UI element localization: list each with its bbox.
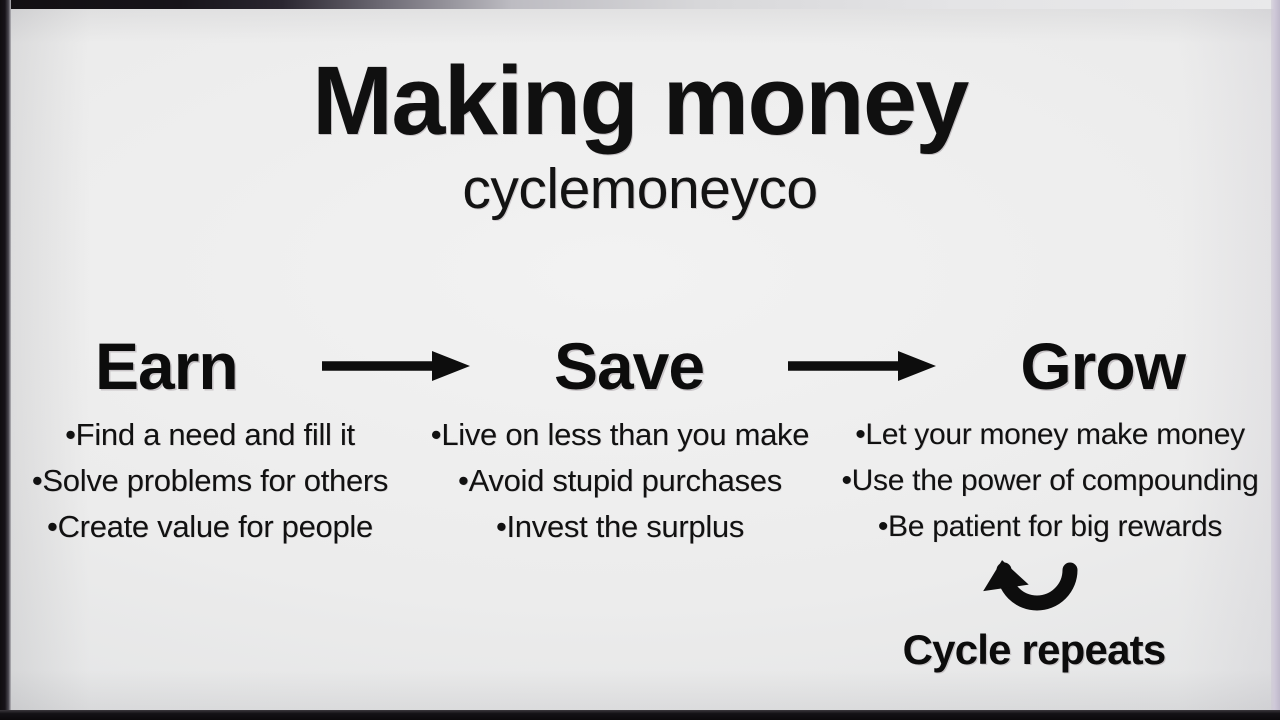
stage-heading-earn: Earn <box>95 333 238 399</box>
title-block: Making money cyclemoneyco <box>0 52 1280 218</box>
arrow-right-icon <box>322 347 470 385</box>
list-item: •Live on less than you make <box>420 412 820 458</box>
circular-arrow-icon <box>858 556 1210 624</box>
arrow-right-icon <box>788 347 936 385</box>
list-item: •Invest the surplus <box>420 504 820 550</box>
page-subtitle: cyclemoneyco <box>0 161 1280 218</box>
column-earn: •Find a need and fill it •Solve problems… <box>0 412 420 550</box>
list-item: •Let your money make money <box>820 412 1280 458</box>
list-item: •Avoid stupid purchases <box>420 458 820 504</box>
cycle-repeats-block: Cycle repeats <box>858 556 1210 674</box>
slide-canvas: Making money cyclemoneyco Earn Save Grow <box>0 0 1280 720</box>
column-grow: •Let your money make money •Use the powe… <box>820 412 1280 550</box>
page-title: Making money <box>0 52 1280 149</box>
list-item: •Solve problems for others <box>0 458 420 504</box>
column-save: •Live on less than you make •Avoid stupi… <box>420 412 820 550</box>
list-item: •Create value for people <box>0 504 420 550</box>
flow-diagram: Earn Save Grow <box>95 326 1185 406</box>
stage-heading-grow: Grow <box>1020 333 1185 399</box>
list-item: •Be patient for big rewards <box>820 504 1280 550</box>
cycle-repeats-label: Cycle repeats <box>858 626 1210 674</box>
bullet-columns: •Find a need and fill it •Solve problems… <box>0 412 1280 550</box>
list-item: •Use the power of compounding <box>820 458 1280 504</box>
stage-heading-save: Save <box>554 333 704 399</box>
list-item: •Find a need and fill it <box>0 412 420 458</box>
